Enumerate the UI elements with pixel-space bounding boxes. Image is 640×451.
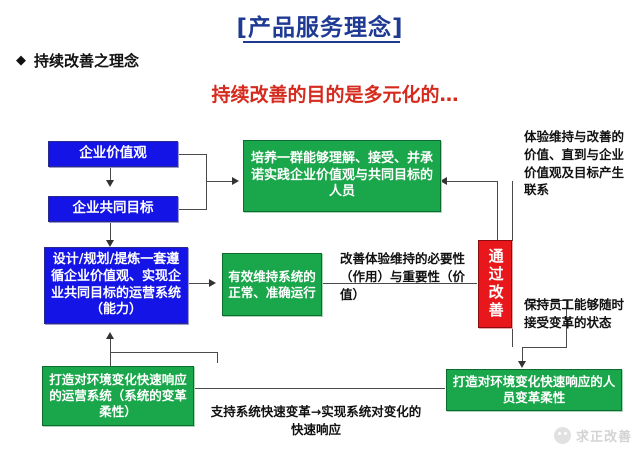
arrow-sys-agility-to-system <box>106 332 114 339</box>
connector-merge-vertical <box>206 154 207 210</box>
connector-people-agility-to-sys <box>190 388 445 389</box>
subtitle: 持续改善的目的是多元化的… <box>0 80 640 107</box>
watermark: 求正改善 <box>554 426 632 445</box>
arrow-system-to-maintain <box>209 279 216 287</box>
node-system[interactable]: 设计/规划/提炼一套遵循企业价值观、实现企业共同目标的运营系统（能力） <box>44 247 188 324</box>
connector-values-right <box>178 154 206 155</box>
title-underline <box>243 41 400 43</box>
connector-right-rail <box>512 181 513 347</box>
wechat-icon <box>554 427 571 444</box>
arrow-into-people-from-right <box>440 177 447 185</box>
connector-system-to-maintain <box>188 283 210 284</box>
connector-merge-to-people <box>206 181 233 182</box>
arrow-goals-to-system <box>106 240 114 247</box>
node-sys-agility-label: 打造对环境变化快速响应的运营系统（系统的变革柔性） <box>47 372 189 420</box>
node-values-label: 企业价值观 <box>79 145 147 162</box>
node-people[interactable]: 培养一群能够理解、接受、并承诺实践企业价值观与共同目标的人员 <box>243 140 441 212</box>
connector-goals-down <box>110 220 111 242</box>
node-people-label: 培养一群能够理解、接受、并承诺实践企业价值观与共同目标的人员 <box>248 151 436 201</box>
note-employee-state: 保持员工能够随时接受变革的状态 <box>524 296 628 332</box>
note-necessity: 改善体验维持的必要性（作用）与重要性（价值） <box>340 250 470 303</box>
arrow-into-people <box>232 177 239 185</box>
connector-sys-feeder <box>110 352 218 353</box>
slide-canvas: [产品服务理念] ◆ 持续改善之理念 持续改善的目的是多元化的… <box>0 0 640 451</box>
node-sys-agility[interactable]: 打造对环境变化快速响应的运营系统（系统的变革柔性） <box>42 366 194 426</box>
connector-kaizen-to-people <box>447 181 497 182</box>
node-maintain-label: 有效维持系统的正常、准确运行 <box>227 269 317 301</box>
connector-sys-feeder-drop <box>217 352 218 363</box>
page-title: [产品服务理念] <box>0 8 640 42</box>
section-bullet: ◆ 持续改善之理念 <box>16 50 139 71</box>
connector-goals-right <box>178 209 206 210</box>
connector-to-people-agility <box>522 347 567 348</box>
arrow-into-people-agility <box>518 361 526 368</box>
node-values[interactable]: 企业价值观 <box>48 141 178 167</box>
node-kaizen-label: 通过改善 <box>485 248 504 320</box>
connector-kaizen-up <box>497 181 498 240</box>
note-fast-change: 支持系统快速变革→实现系统对变化的快速响应 <box>205 403 427 439</box>
node-people-agility-label: 打造对环境变化快速响应的人员变革柔性 <box>451 374 617 406</box>
note-experience-value: 体验维持与改善的价值、直到与企业价值观及目标产生联系 <box>524 128 636 199</box>
watermark-text: 求正改善 <box>576 426 632 445</box>
node-people-agility[interactable]: 打造对环境变化快速响应的人员变革柔性 <box>446 369 622 411</box>
node-system-label: 设计/规划/提炼一套遵循企业价值观、实现企业共同目标的运营系统（能力） <box>49 252 183 319</box>
node-goals-label: 企业共同目标 <box>73 200 154 217</box>
arrow-values-to-goals <box>106 180 114 187</box>
diamond-bullet-icon: ◆ <box>16 54 26 67</box>
node-maintain[interactable]: 有效维持系统的正常、准确运行 <box>222 253 322 316</box>
node-goals[interactable]: 企业共同目标 <box>48 196 178 222</box>
node-kaizen[interactable]: 通过改善 <box>478 240 512 328</box>
section-bullet-label: 持续改善之理念 <box>34 50 139 71</box>
